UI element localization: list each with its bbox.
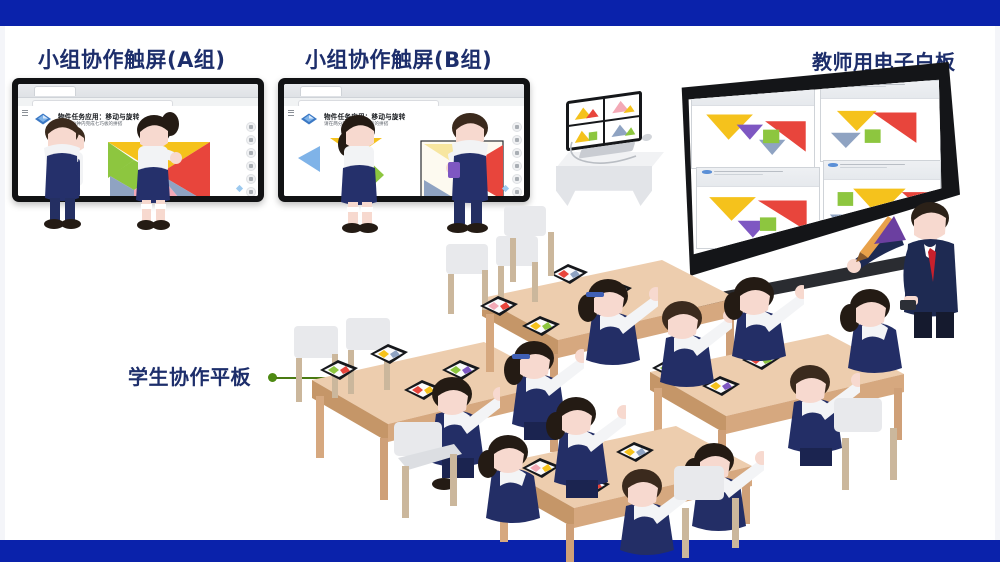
tablet-1[interactable] xyxy=(318,354,360,384)
chair-front-3 xyxy=(828,392,958,512)
classroom-area xyxy=(0,0,990,514)
seated-student-8 xyxy=(826,278,918,398)
right-edge-strip xyxy=(995,26,1000,540)
chair-front-2 xyxy=(666,460,806,562)
chair-front-1 xyxy=(388,414,518,544)
chair-back-1 xyxy=(498,200,608,310)
scene-root: 小组协作触屏(A组) 小组协作触屏(B组) 教师用电子白板 学生协作平板 xyxy=(0,0,1000,562)
